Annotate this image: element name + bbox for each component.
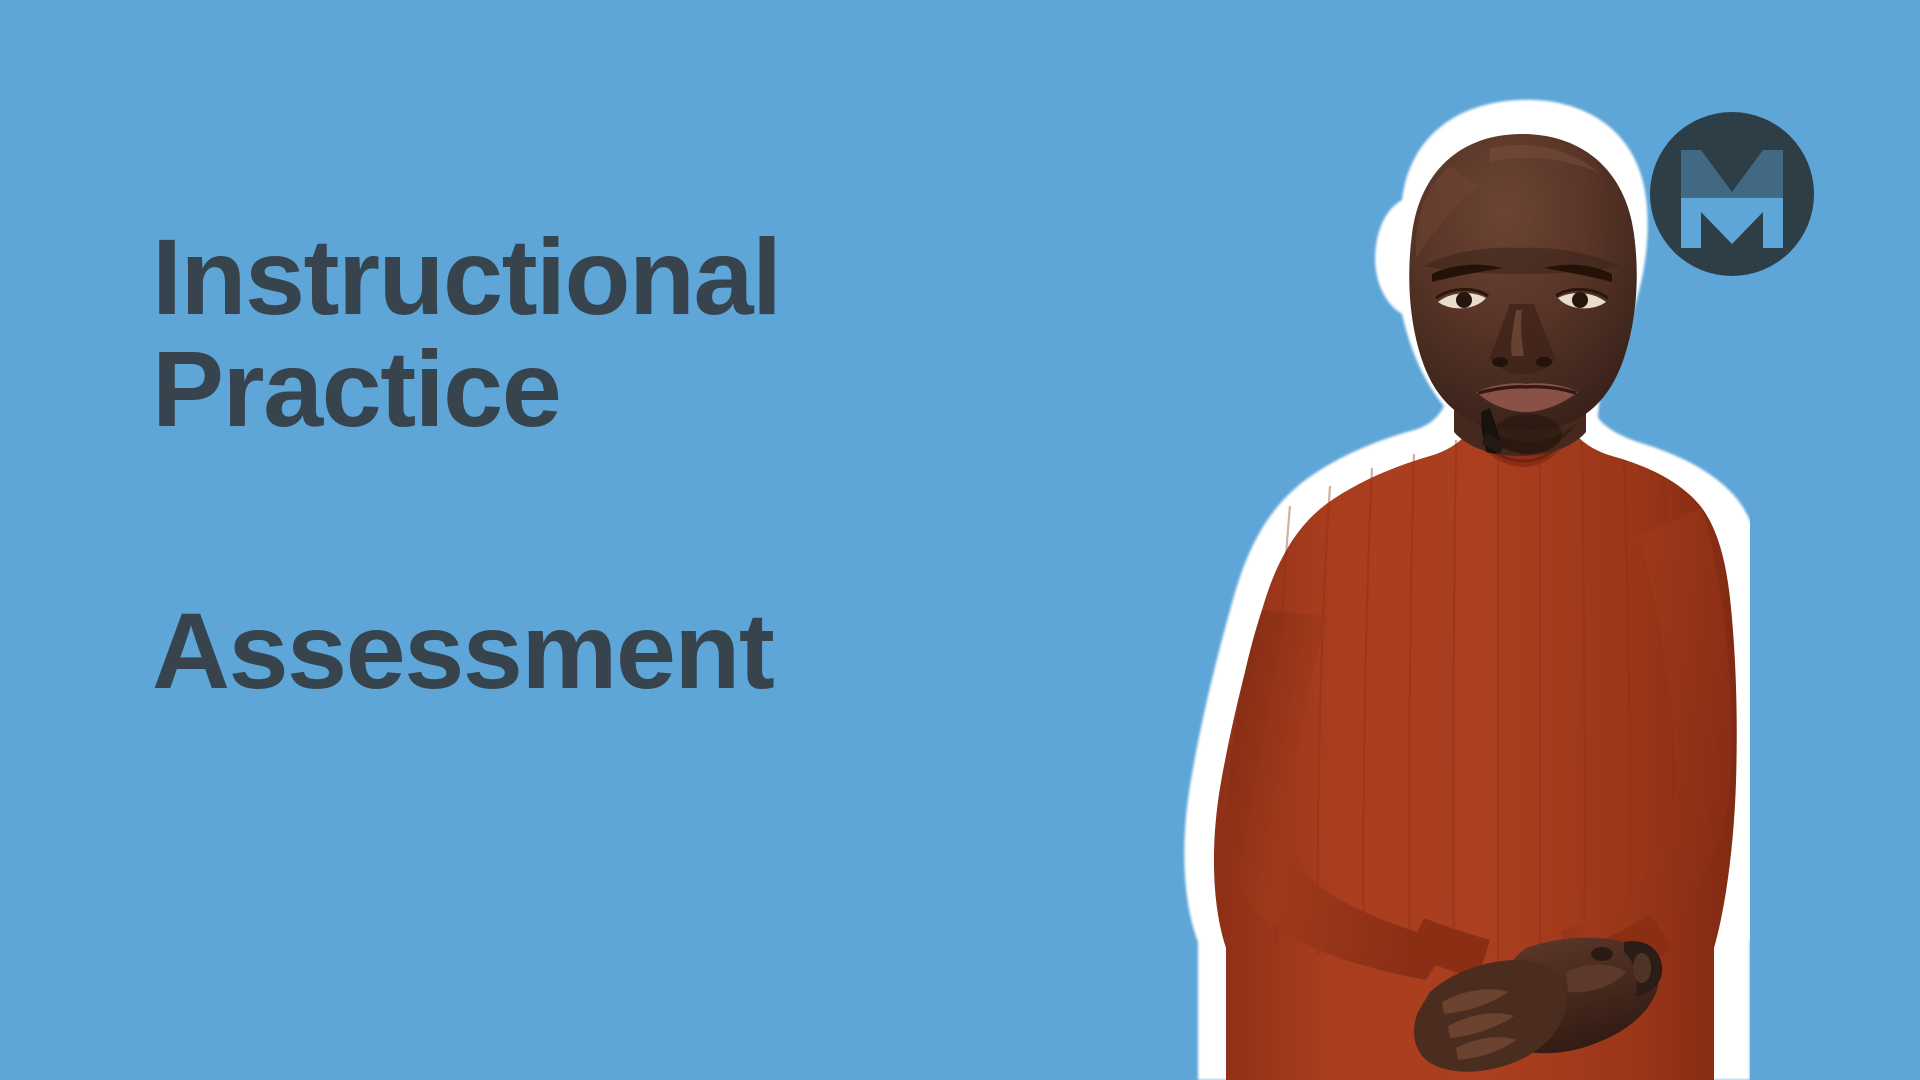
presenter-figure — [930, 96, 1750, 1080]
goatee — [1494, 414, 1562, 454]
presenter-head — [1409, 134, 1637, 454]
page-subtitle: Assessment — [152, 596, 912, 706]
presenter-illustration — [930, 96, 1750, 1080]
page-title-line-2: Practice — [152, 334, 912, 444]
title-block: Instructional Practice Assessment — [152, 222, 912, 706]
slide-canvas: Instructional Practice Assessment — [0, 0, 1920, 1080]
logo-m-lower — [1681, 198, 1783, 248]
page-title-line-1: Instructional — [152, 222, 912, 332]
brand-logo[interactable] — [1650, 112, 1814, 276]
ring — [1591, 947, 1613, 961]
brand-logo-m-icon[interactable] — [1650, 112, 1814, 276]
